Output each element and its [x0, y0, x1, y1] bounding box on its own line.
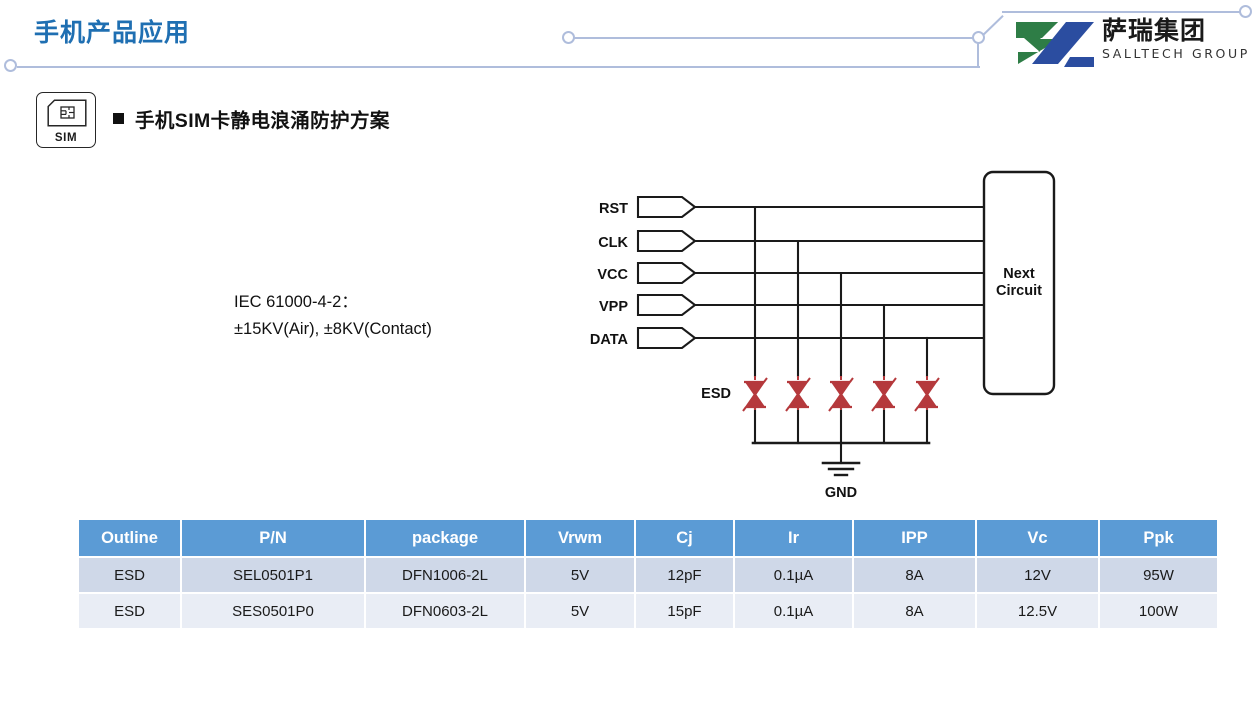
cell-outline: ESD [79, 558, 180, 592]
cell-pn: SEL0501P1 [182, 558, 364, 592]
table-header-ipp: IPP [854, 520, 975, 556]
signal-label-clk: CLK [598, 235, 628, 251]
deco-circle-junction [972, 31, 985, 44]
table-header-outline: Outline [79, 520, 180, 556]
sim-card-icon: SIM [36, 92, 96, 148]
signal-label-vpp: VPP [599, 299, 628, 315]
table-row: ESD SEL0501P1 DFN1006-2L 5V 12pF 0.1µA 8… [79, 558, 1217, 592]
next-circuit-label-line1: Next [1003, 266, 1035, 282]
table-header-vrwm: Vrwm [526, 520, 634, 556]
salltech-logo-mark [1014, 16, 1096, 74]
logo-company-en: SALLTECH GROUP [1102, 46, 1248, 62]
company-logo: 萨瑞集团 SALLTECH GROUP [1014, 14, 1246, 76]
cell-vc: 12.5V [977, 594, 1098, 628]
deco-line-lower-left [17, 66, 980, 68]
circuit-diagram: RST CLK VCC VPP DATA ESD GND Next Circui… [560, 160, 1100, 510]
cell-ppk: 95W [1100, 558, 1217, 592]
table-header-vc: Vc [977, 520, 1098, 556]
deco-circle-left [4, 59, 17, 72]
table-header-ir: Ir [735, 520, 852, 556]
slide-canvas: 手机产品应用 萨瑞集团 SALLTECH GROUP SIM [0, 0, 1256, 703]
signal-label-data: DATA [590, 332, 629, 348]
section-subtitle: 手机SIM卡静电浪涌防护方案 [113, 104, 390, 133]
deco-line-middle [574, 37, 978, 39]
cell-vrwm: 5V [526, 594, 634, 628]
gnd-label: GND [825, 485, 857, 501]
cell-cj: 12pF [636, 558, 733, 592]
page-title: 手机产品应用 [34, 13, 190, 49]
cell-package: DFN1006-2L [366, 558, 524, 592]
signal-label-vcc: VCC [597, 267, 628, 283]
cell-ir: 0.1µA [735, 558, 852, 592]
cell-ppk: 100W [1100, 594, 1217, 628]
iec-note-line1: IEC 61000-4-2： [234, 289, 432, 316]
deco-circle-middle-left [562, 31, 575, 44]
square-bullet-icon [113, 113, 124, 124]
cell-outline: ESD [79, 594, 180, 628]
sim-card-outline-icon [47, 99, 87, 127]
deco-line-top-right [1002, 11, 1244, 13]
cell-ipp: 8A [854, 558, 975, 592]
table-header-cj: Cj [636, 520, 733, 556]
cell-ir: 0.1µA [735, 594, 852, 628]
table-header-row: Outline P/N package Vrwm Cj Ir IPP Vc Pp… [79, 520, 1217, 556]
cell-ipp: 8A [854, 594, 975, 628]
sim-icon-label: SIM [37, 132, 95, 144]
logo-text: 萨瑞集团 SALLTECH GROUP [1102, 16, 1248, 62]
cell-package: DFN0603-2L [366, 594, 524, 628]
iec-note-line2: ±15KV(Air), ±8KV(Contact) [234, 316, 432, 343]
cell-vc: 12V [977, 558, 1098, 592]
logo-company-cn: 萨瑞集团 [1102, 16, 1248, 46]
esd-label: ESD [701, 386, 731, 402]
spec-table: Outline P/N package Vrwm Cj Ir IPP Vc Pp… [77, 518, 1219, 630]
table-header-package: package [366, 520, 524, 556]
table-row: ESD SES0501P0 DFN0603-2L 5V 15pF 0.1µA 8… [79, 594, 1217, 628]
table-header-ppk: Ppk [1100, 520, 1217, 556]
table-header-pn: P/N [182, 520, 364, 556]
cell-pn: SES0501P0 [182, 594, 364, 628]
cell-vrwm: 5V [526, 558, 634, 592]
section-subtitle-text: 手机SIM卡静电浪涌防护方案 [135, 104, 390, 133]
iec-standard-note: IEC 61000-4-2： ±15KV(Air), ±8KV(Contact) [234, 289, 432, 343]
cell-cj: 15pF [636, 594, 733, 628]
next-circuit-label-line2: Circuit [996, 283, 1042, 299]
signal-label-rst: RST [599, 201, 628, 217]
